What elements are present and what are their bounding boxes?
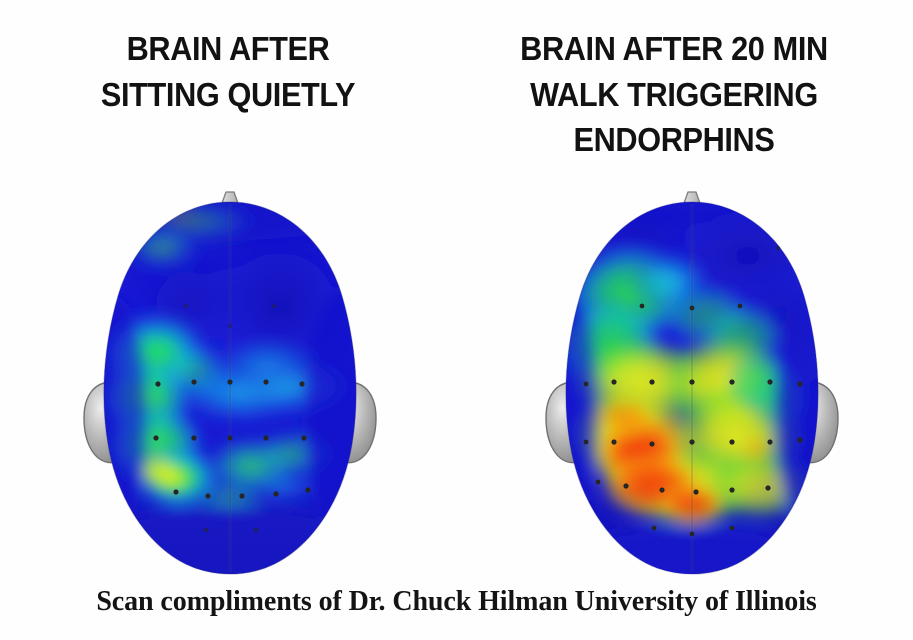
electrode-site xyxy=(153,435,158,440)
image-canvas: BRAIN AFTER SITTING QUIETLY BRAIN AFTER … xyxy=(0,0,913,640)
electrode-site xyxy=(301,435,306,440)
electrode-site xyxy=(730,526,735,531)
electrode-site xyxy=(184,304,188,308)
electrode-site xyxy=(596,480,601,485)
electrode-site xyxy=(205,493,210,498)
electrode-site xyxy=(767,439,772,444)
electrode-site xyxy=(227,435,232,440)
electrode-site xyxy=(155,381,160,386)
electrode-site xyxy=(191,379,196,384)
electrode-site xyxy=(776,246,780,250)
electrode-site xyxy=(767,379,772,384)
electrode-site xyxy=(204,528,209,533)
electrode-site xyxy=(299,381,304,386)
electrode-site xyxy=(797,381,802,386)
brain-scan-left-svg xyxy=(30,186,430,586)
electrode-site xyxy=(652,526,657,531)
electrode-site xyxy=(693,489,698,494)
scans-row xyxy=(0,186,913,586)
electrode-site xyxy=(228,324,232,328)
electrode-site xyxy=(640,304,645,309)
electrode-site xyxy=(254,528,259,533)
brain-scan-left xyxy=(30,186,430,586)
electrode-site xyxy=(623,483,628,488)
electrode-site xyxy=(263,435,268,440)
electrode-site xyxy=(729,379,734,384)
electrode-site xyxy=(584,382,589,387)
panel-title-right: BRAIN AFTER 20 MIN WALK TRIGGERING ENDOR… xyxy=(466,26,883,163)
electrode-site xyxy=(797,437,802,442)
panel-title-right-line-2: WALK TRIGGERING xyxy=(466,72,883,118)
titles-row: BRAIN AFTER SITTING QUIETLY BRAIN AFTER … xyxy=(0,0,913,190)
electrode-site xyxy=(690,532,695,537)
panel-title-left: BRAIN AFTER SITTING QUIETLY xyxy=(33,26,424,117)
electrode-site xyxy=(659,487,664,492)
electrode-site xyxy=(690,306,695,311)
electrode-site xyxy=(227,379,232,384)
source-caption: Scan compliments of Dr. Chuck Hilman Uni… xyxy=(0,586,913,618)
electrode-site xyxy=(765,485,770,490)
panel-title-right-line-3: ENDORPHINS xyxy=(466,117,883,163)
electrode-site xyxy=(239,493,244,498)
electrode-site xyxy=(649,441,654,446)
electrode-site xyxy=(689,439,694,444)
topographic-map-left xyxy=(30,186,430,586)
electrode-site xyxy=(611,439,616,444)
electrode-site xyxy=(273,491,278,496)
electrode-site xyxy=(584,440,589,445)
electrode-site xyxy=(729,439,734,444)
electrode-site xyxy=(173,489,178,494)
electrode-site xyxy=(305,487,310,492)
electrode-site xyxy=(191,435,196,440)
electrode-site xyxy=(649,379,654,384)
electrode-site xyxy=(263,379,268,384)
brain-scan-right-svg xyxy=(492,186,892,586)
panel-title-left-line-2: SITTING QUIETLY xyxy=(33,72,424,118)
electrode-site xyxy=(738,304,743,309)
panel-title-left-line-1: BRAIN AFTER xyxy=(33,26,424,72)
electrode-site xyxy=(689,379,694,384)
electrode-site xyxy=(272,304,276,308)
electrode-site xyxy=(729,487,734,492)
topographic-map-right xyxy=(492,186,892,586)
brain-scan-right xyxy=(492,186,892,586)
panel-title-right-line-1: BRAIN AFTER 20 MIN xyxy=(466,26,883,72)
electrode-site xyxy=(611,379,616,384)
